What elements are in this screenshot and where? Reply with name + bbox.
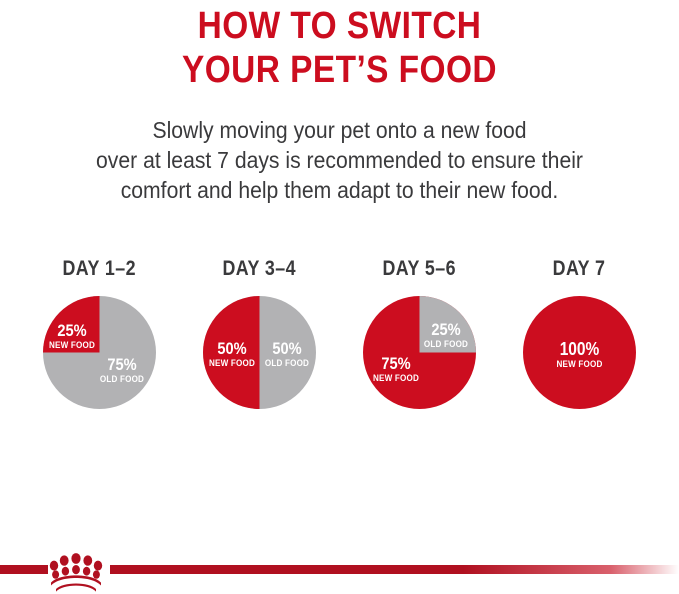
pie-chart-day-3-4: DAY 3–4 50% NEW FOOD 50% OLD FOOD [180,258,340,409]
footer [0,552,679,594]
pie-graphic-day-3-4: 50% NEW FOOD 50% OLD FOOD [203,296,316,409]
pie-slice-new-food [523,296,636,409]
pie-slice-new-food [203,296,260,409]
pie-svg [43,296,156,409]
pie-svg [523,296,636,409]
pie-day-label: DAY 5–6 [383,258,456,280]
footer-bar-left [0,565,48,574]
pie-graphic-day-1-2: 25% NEW FOOD 75% OLD FOOD [43,296,156,409]
page-title-line-2: YOUR PET’S FOOD [41,48,639,92]
intro-line-3: comfort and help them adapt to their new… [27,175,652,205]
pie-slice-old-food [420,296,477,353]
pie-chart-day-5-6: DAY 5–6 25% OLD FOOD 75% NEW FOOD [340,258,500,409]
pie-svg [363,296,476,409]
pie-chart-row: DAY 1–2 25% NEW FOOD 75% OLD FOOD DAY 3–… [0,258,679,428]
pie-day-label: DAY 1–2 [63,258,136,280]
pie-svg [203,296,316,409]
page-title-line-1: HOW TO SWITCH [198,5,482,47]
royal-canin-crown-icon [46,552,106,592]
intro-line-1: Slowly moving your pet onto a new food [27,115,652,145]
intro-paragraph: Slowly moving your pet onto a new food o… [27,115,652,205]
pie-graphic-day-7: 100% NEW FOOD [523,296,636,409]
pie-slice-new-food [43,296,100,353]
pie-chart-day-7: DAY 7 100% NEW FOOD [500,258,660,409]
intro-line-2: over at least 7 days is recommended to e… [27,145,652,175]
footer-bar-right [110,565,679,574]
page-title: HOW TO SWITCH YOUR PET’S FOOD [41,4,639,92]
pie-day-label: DAY 3–4 [223,258,296,280]
pie-graphic-day-5-6: 25% OLD FOOD 75% NEW FOOD [363,296,476,409]
pie-chart-day-1-2: DAY 1–2 25% NEW FOOD 75% OLD FOOD [20,258,180,409]
pie-day-label: DAY 7 [553,258,606,280]
